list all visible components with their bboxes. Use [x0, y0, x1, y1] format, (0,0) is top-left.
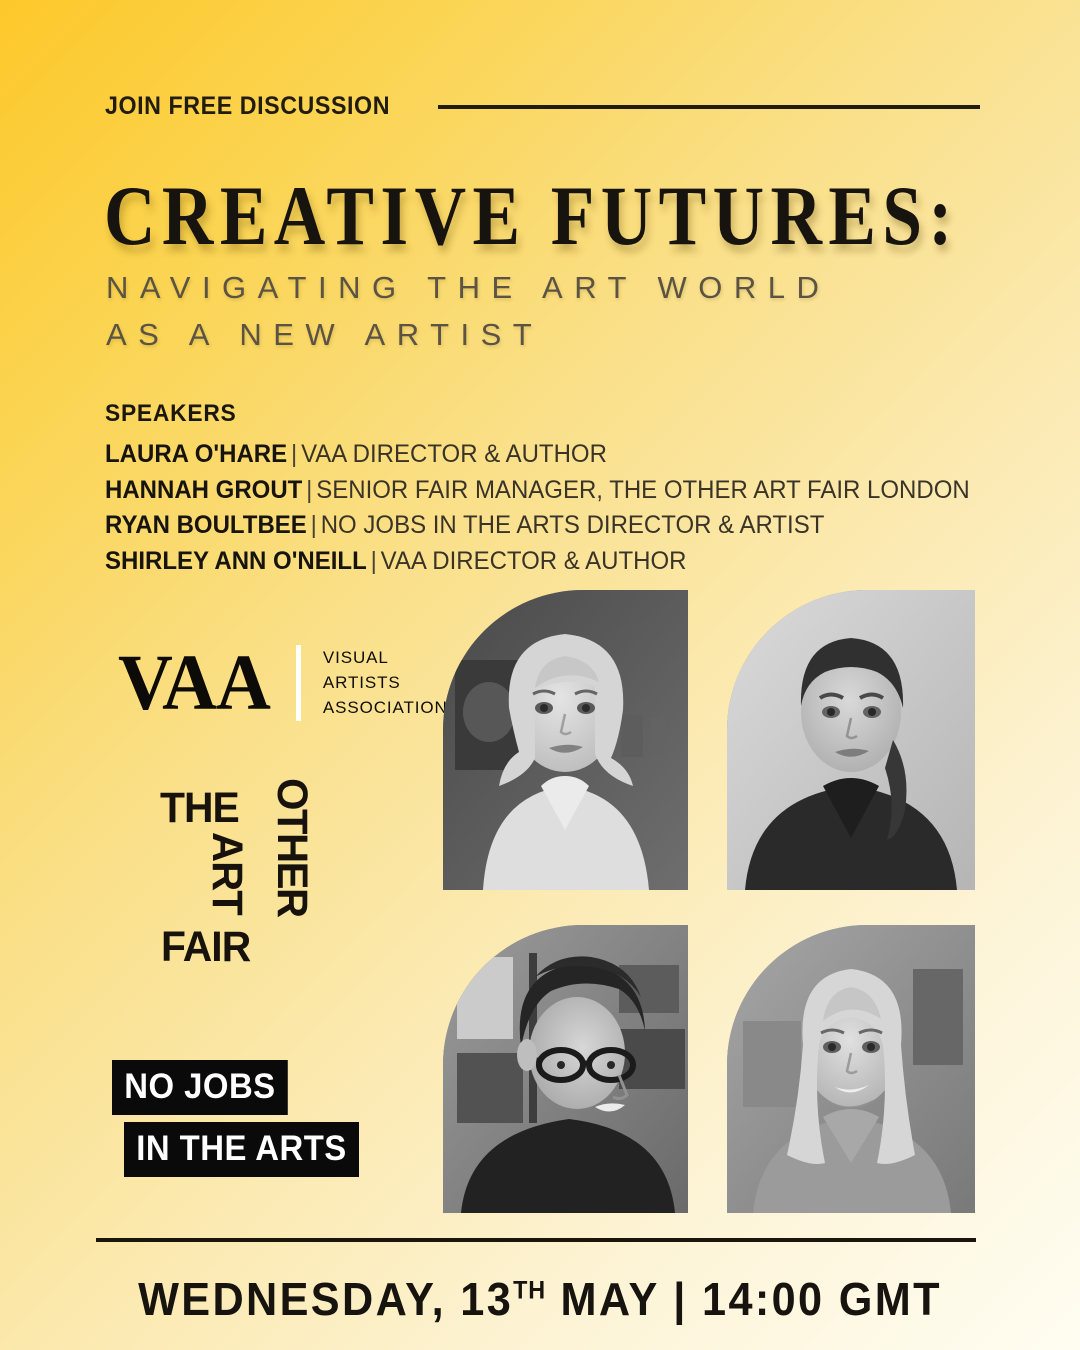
footer-date-number: 13	[460, 1273, 513, 1325]
speaker-portrait-shirley-ann-oneill	[727, 925, 975, 1213]
eyebrow-row: JOIN FREE DISCUSSION	[105, 88, 980, 124]
speaker-portrait-laura-ohare	[443, 590, 688, 890]
speaker-name: RYAN BOULTBEE	[105, 511, 307, 539]
vaa-word-artists: ARTISTS	[323, 673, 448, 693]
speaker-portrait-hannah-grout	[727, 590, 975, 890]
vaa-divider-bar	[296, 645, 301, 721]
vaa-word-visual: VISUAL	[323, 648, 448, 668]
event-datetime: WEDNESDAY, 13TH MAY | 14:00 GMT	[32, 1272, 1047, 1326]
logo-vaa: VAA VISUAL ARTISTS ASSOCIATION	[118, 645, 448, 721]
footer-separator: |	[673, 1273, 702, 1325]
speakers-heading: SPEAKERS	[105, 400, 237, 428]
taf-word-other: OTHER	[267, 778, 316, 917]
portrait-image	[727, 925, 975, 1213]
portrait-image	[443, 590, 688, 890]
speaker-name: HANNAH GROUT	[105, 476, 302, 504]
taf-word-fair: FAIR	[161, 923, 250, 972]
speaker-role: VAA DIRECTOR & AUTHOR	[381, 547, 687, 575]
speaker-name: LAURA O'HARE	[105, 440, 287, 468]
logo-no-jobs-in-the-arts: NO JOBS IN THE ARTS	[112, 1060, 374, 1177]
page-title: CREATIVE FUTURES:	[104, 173, 959, 258]
speaker-separator: |	[302, 476, 316, 504]
vaa-fullname: VISUAL ARTISTS ASSOCIATION	[323, 648, 448, 718]
footer-date-suffix: TH	[513, 1278, 546, 1305]
speaker-separator: |	[307, 511, 321, 539]
speaker-name: SHIRLEY ANN O'NEILL	[105, 547, 367, 575]
speakers-list: LAURA O'HARE|VAA DIRECTOR & AUTHOR HANNA…	[105, 437, 1005, 579]
list-item: RYAN BOULTBEE|NO JOBS IN THE ARTS DIRECT…	[105, 508, 969, 544]
speaker-portrait-ryan-boultbee	[443, 925, 688, 1213]
speaker-role: VAA DIRECTOR & AUTHOR	[301, 440, 607, 468]
taf-word-art: ART	[202, 832, 251, 915]
speaker-separator: |	[287, 440, 301, 468]
portrait-image	[727, 590, 975, 890]
vaa-word-association: ASSOCIATION	[323, 698, 448, 718]
eyebrow-label: JOIN FREE DISCUSSION	[105, 92, 390, 121]
list-item: HANNAH GROUT|SENIOR FAIR MANAGER, THE OT…	[105, 473, 969, 509]
speaker-role: NO JOBS IN THE ARTS DIRECTOR & ARTIST	[321, 511, 825, 539]
event-promo-poster: { "poster": { "eyebrow": "JOIN FREE DISC…	[0, 0, 1080, 1350]
eyebrow-divider-rule	[438, 105, 981, 109]
njita-line-1: NO JOBS	[112, 1060, 288, 1115]
taf-word-the: THE	[160, 784, 239, 833]
list-item: SHIRLEY ANN O'NEILL|VAA DIRECTOR & AUTHO…	[105, 544, 969, 580]
page-subtitle: NAVIGATING THE ART WORLD AS A NEW ARTIST	[106, 265, 830, 358]
footer-day: WEDNESDAY,	[138, 1273, 460, 1325]
speaker-separator: |	[367, 547, 381, 575]
footer-month: MAY	[546, 1273, 673, 1325]
vaa-wordmark: VAA	[118, 647, 270, 719]
portrait-image	[443, 925, 688, 1213]
footer-time: 14:00 GMT	[702, 1273, 942, 1325]
njita-line-2: IN THE ARTS	[124, 1122, 359, 1177]
speaker-role: SENIOR FAIR MANAGER, THE OTHER ART FAIR …	[316, 476, 969, 504]
footer-divider-rule	[96, 1238, 976, 1242]
list-item: LAURA O'HARE|VAA DIRECTOR & AUTHOR	[105, 437, 969, 473]
subtitle-line-2: AS A NEW ARTIST	[106, 312, 830, 359]
subtitle-line-1: NAVIGATING THE ART WORLD	[106, 265, 830, 312]
logo-the-other-art-fair: THE OTHER ART FAIR	[160, 780, 310, 965]
